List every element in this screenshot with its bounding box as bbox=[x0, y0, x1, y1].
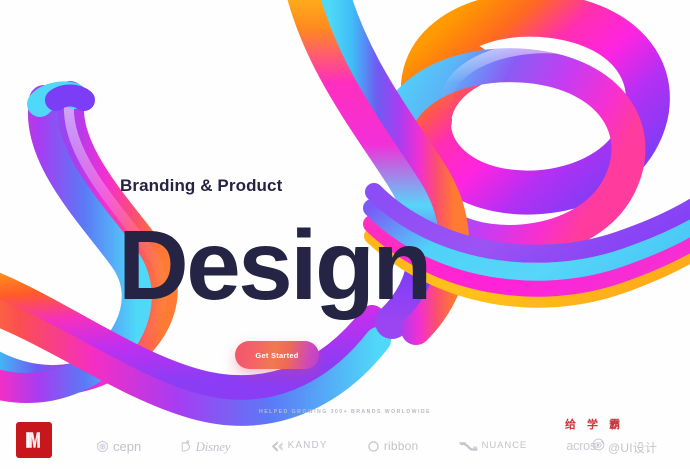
brand-logo-ribbon[interactable]: ribbon bbox=[367, 440, 419, 453]
brand-label-disney: Disney bbox=[195, 440, 230, 453]
disney-wordmark-icon bbox=[180, 440, 191, 453]
brand-label-cepn: cepn bbox=[113, 440, 141, 453]
hero-landing-page: Branding & Product Design Get Started HE… bbox=[0, 0, 690, 469]
get-started-button[interactable]: Get Started bbox=[235, 341, 319, 369]
brand-logo-nuance[interactable]: NUANCE bbox=[458, 440, 528, 453]
brand-logo-disney[interactable]: Disney bbox=[180, 440, 230, 453]
brand-label-nuance: NUANCE bbox=[482, 441, 528, 451]
brand-label-ribbon: ribbon bbox=[384, 440, 419, 452]
weibo-eye-icon bbox=[592, 438, 605, 456]
swoosh-icon bbox=[458, 440, 478, 453]
watermark-weibo: @UI设计 bbox=[592, 438, 657, 456]
brand-logo-cepn[interactable]: cepn bbox=[96, 440, 141, 453]
watermark-chinese-text: 给 学 霸 bbox=[565, 416, 624, 432]
hero-headline: Design bbox=[118, 216, 430, 314]
w-logo-icon bbox=[23, 429, 45, 451]
weibo-handle: @UI设计 bbox=[608, 439, 657, 456]
gear-ring-icon bbox=[367, 440, 380, 453]
brand-logo-kandy[interactable]: KANDY bbox=[270, 440, 328, 453]
hero-kicker: Branding & Product bbox=[120, 176, 282, 196]
brand-logo-row: cepn Disney KANDY bbox=[96, 434, 596, 458]
top-right-loop bbox=[393, 15, 648, 242]
left-cap-ribbon bbox=[40, 94, 84, 104]
brand-label-kandy: KANDY bbox=[288, 441, 328, 451]
watermark-w-badge bbox=[16, 422, 52, 458]
target-icon bbox=[96, 440, 109, 453]
chevron-arrow-icon bbox=[270, 440, 284, 453]
social-proof-tagline: HELPED GROWING 300+ BRANDS WORLDWIDE bbox=[0, 409, 690, 415]
